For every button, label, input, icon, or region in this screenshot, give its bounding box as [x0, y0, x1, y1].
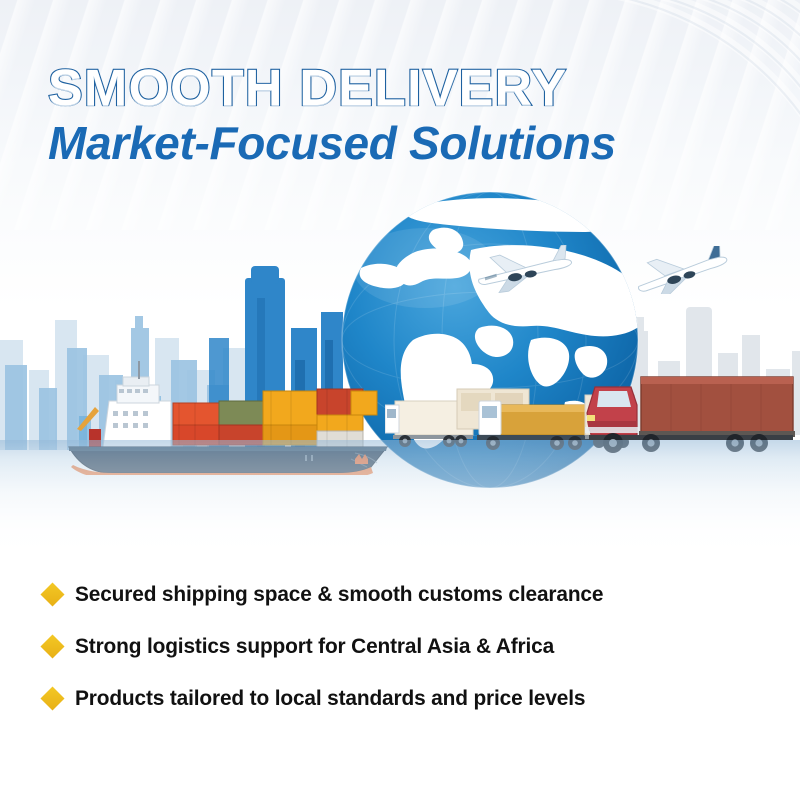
bullet-label: Secured shipping space & smooth customs … [75, 582, 603, 607]
hero-scene [0, 150, 800, 550]
airplane-icon [628, 246, 732, 294]
bullet-label: Products tailored to local standards and… [75, 686, 585, 711]
diamond-icon [40, 634, 64, 658]
banner-canvas: SMOOTH DELIVERY Market-Focused Solutions [0, 0, 800, 800]
bullet-label: Strong logistics support for Central Asi… [75, 634, 554, 659]
list-item: Secured shipping space & smooth customs … [44, 568, 764, 620]
list-item: Products tailored to local standards and… [44, 672, 764, 724]
feature-bullets: Secured shipping space & smooth customs … [44, 568, 764, 724]
diamond-icon [40, 686, 64, 710]
list-item: Strong logistics support for Central Asi… [44, 620, 764, 672]
airplane-icon [468, 245, 578, 293]
diamond-icon [40, 582, 64, 606]
banner-title: SMOOTH DELIVERY [48, 62, 762, 113]
